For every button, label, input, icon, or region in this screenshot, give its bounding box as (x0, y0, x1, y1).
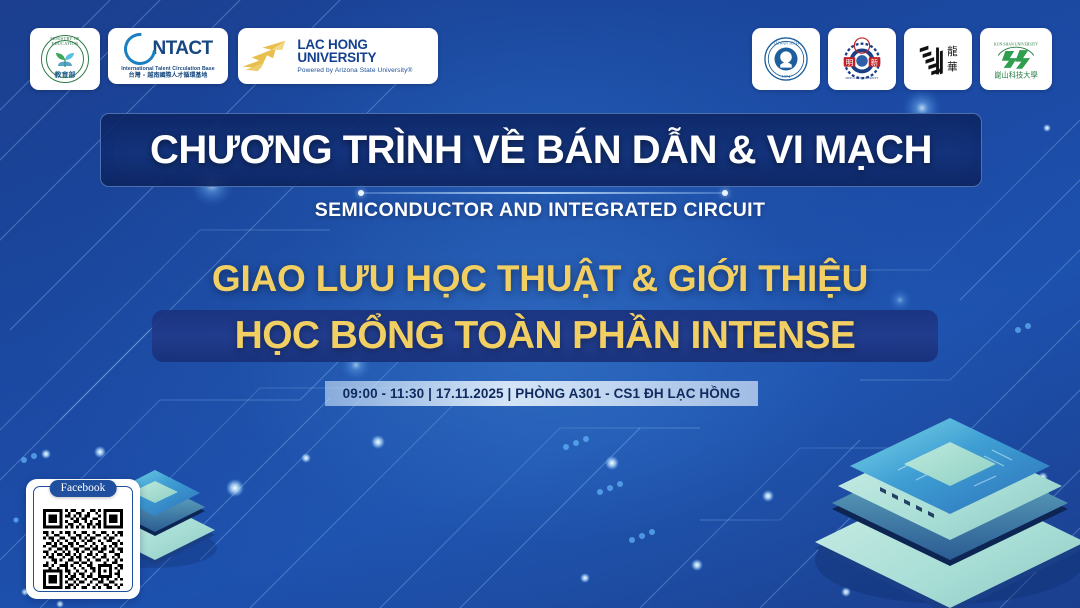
svg-text:龍: 龍 (947, 45, 958, 58)
svg-text:明: 明 (846, 58, 854, 67)
divider-dot-left (358, 190, 364, 196)
svg-text:MING CHI UNIVERSITY: MING CHI UNIVERSITY (845, 76, 879, 80)
qr-code-image[interactable] (42, 509, 124, 589)
event-details-bar: 09:00 - 11:30 | 17.11.2025 | PHÒNG A301 … (325, 381, 758, 406)
facebook-label: Facebook (50, 480, 117, 497)
logo-ming-chi-university: 明 新 MING CHI UNIVERSITY (828, 28, 896, 90)
logo-lac-hong-university: LAC HONG UNIVERSITY Powered by Arizona S… (238, 28, 438, 84)
svg-text:KUN SHAN UNIVERSITY: KUN SHAN UNIVERSITY (994, 43, 1038, 47)
intact-subtitle-cn: 台灣 - 越南國際人才循環基地 (129, 73, 208, 79)
logo-taiwan-tech: TAIWAN TECH 1974 (752, 28, 820, 90)
logo-kun-shan-university: KUN SHAN UNIVERSITY 崑山科技大學 (980, 28, 1052, 90)
logo-lunghwa-university: 龍 華 (904, 28, 972, 90)
ministry-ring-text: MINISTRY OF EDUCATION (41, 36, 89, 46)
kun-shan-mark-icon: KUN SHAN UNIVERSITY 崑山科技大學 (993, 36, 1039, 82)
event-details-text: 09:00 - 11:30 | 17.11.2025 | PHÒNG A301 … (343, 386, 741, 401)
headline-box: HỌC BỔNG TOÀN PHẦN INTENSE (152, 310, 938, 362)
ming-chi-seal-icon: 明 新 MING CHI UNIVERSITY (839, 36, 885, 82)
title-divider (360, 192, 726, 194)
intact-emblem: NTACT International Talent Circulation B… (121, 33, 215, 80)
qr-code-card[interactable]: Facebook (26, 479, 140, 599)
svg-text:崑山科技大學: 崑山科技大學 (994, 71, 1038, 80)
page-title: CHƯƠNG TRÌNH VỀ BÁN DẪN & VI MẠCH (150, 128, 932, 173)
ministry-chinese-name: 教育部 (41, 70, 89, 80)
lunghwa-mark-icon: 龍 華 (915, 36, 961, 82)
main-title-banner: CHƯƠNG TRÌNH VỀ BÁN DẪN & VI MẠCH (100, 113, 982, 187)
svg-text:TAIWAN TECH: TAIWAN TECH (773, 42, 799, 46)
lac-hong-powered-by: Powered by Arizona State University® (297, 68, 438, 75)
taiwan-tech-seal-icon: TAIWAN TECH 1974 (763, 36, 809, 82)
svg-text:華: 華 (947, 62, 958, 74)
logo-intact: NTACT International Talent Circulation B… (108, 28, 228, 84)
divider-dot-right (722, 190, 728, 196)
lac-hong-bird-icon (238, 36, 291, 76)
svg-text:1974: 1974 (782, 74, 792, 79)
intact-swirl-icon (117, 28, 162, 71)
event-poster: MINISTRY OF EDUCATION 教育部 NTACT Internat… (0, 0, 1080, 608)
svg-text:新: 新 (871, 57, 879, 67)
chip-large (815, 418, 1080, 608)
headline-line-2: HỌC BỔNG TOÀN PHẦN INTENSE (235, 314, 856, 358)
logo-ministry-of-education: MINISTRY OF EDUCATION 教育部 (30, 28, 100, 90)
headline-line-1: GIAO LƯU HỌC THUẬT & GIỚI THIỆU (0, 258, 1080, 300)
intact-wordmark: NTACT (153, 39, 213, 58)
subtitle-english: SEMICONDUCTOR AND INTEGRATED CIRCUIT (0, 199, 1080, 222)
ministry-of-education-emblem: MINISTRY OF EDUCATION 教育部 (41, 35, 89, 83)
logo-bar: MINISTRY OF EDUCATION 教育部 NTACT Internat… (0, 0, 1080, 110)
seedling-icon (54, 50, 76, 68)
lac-hong-name: LAC HONG UNIVERSITY (297, 38, 438, 65)
